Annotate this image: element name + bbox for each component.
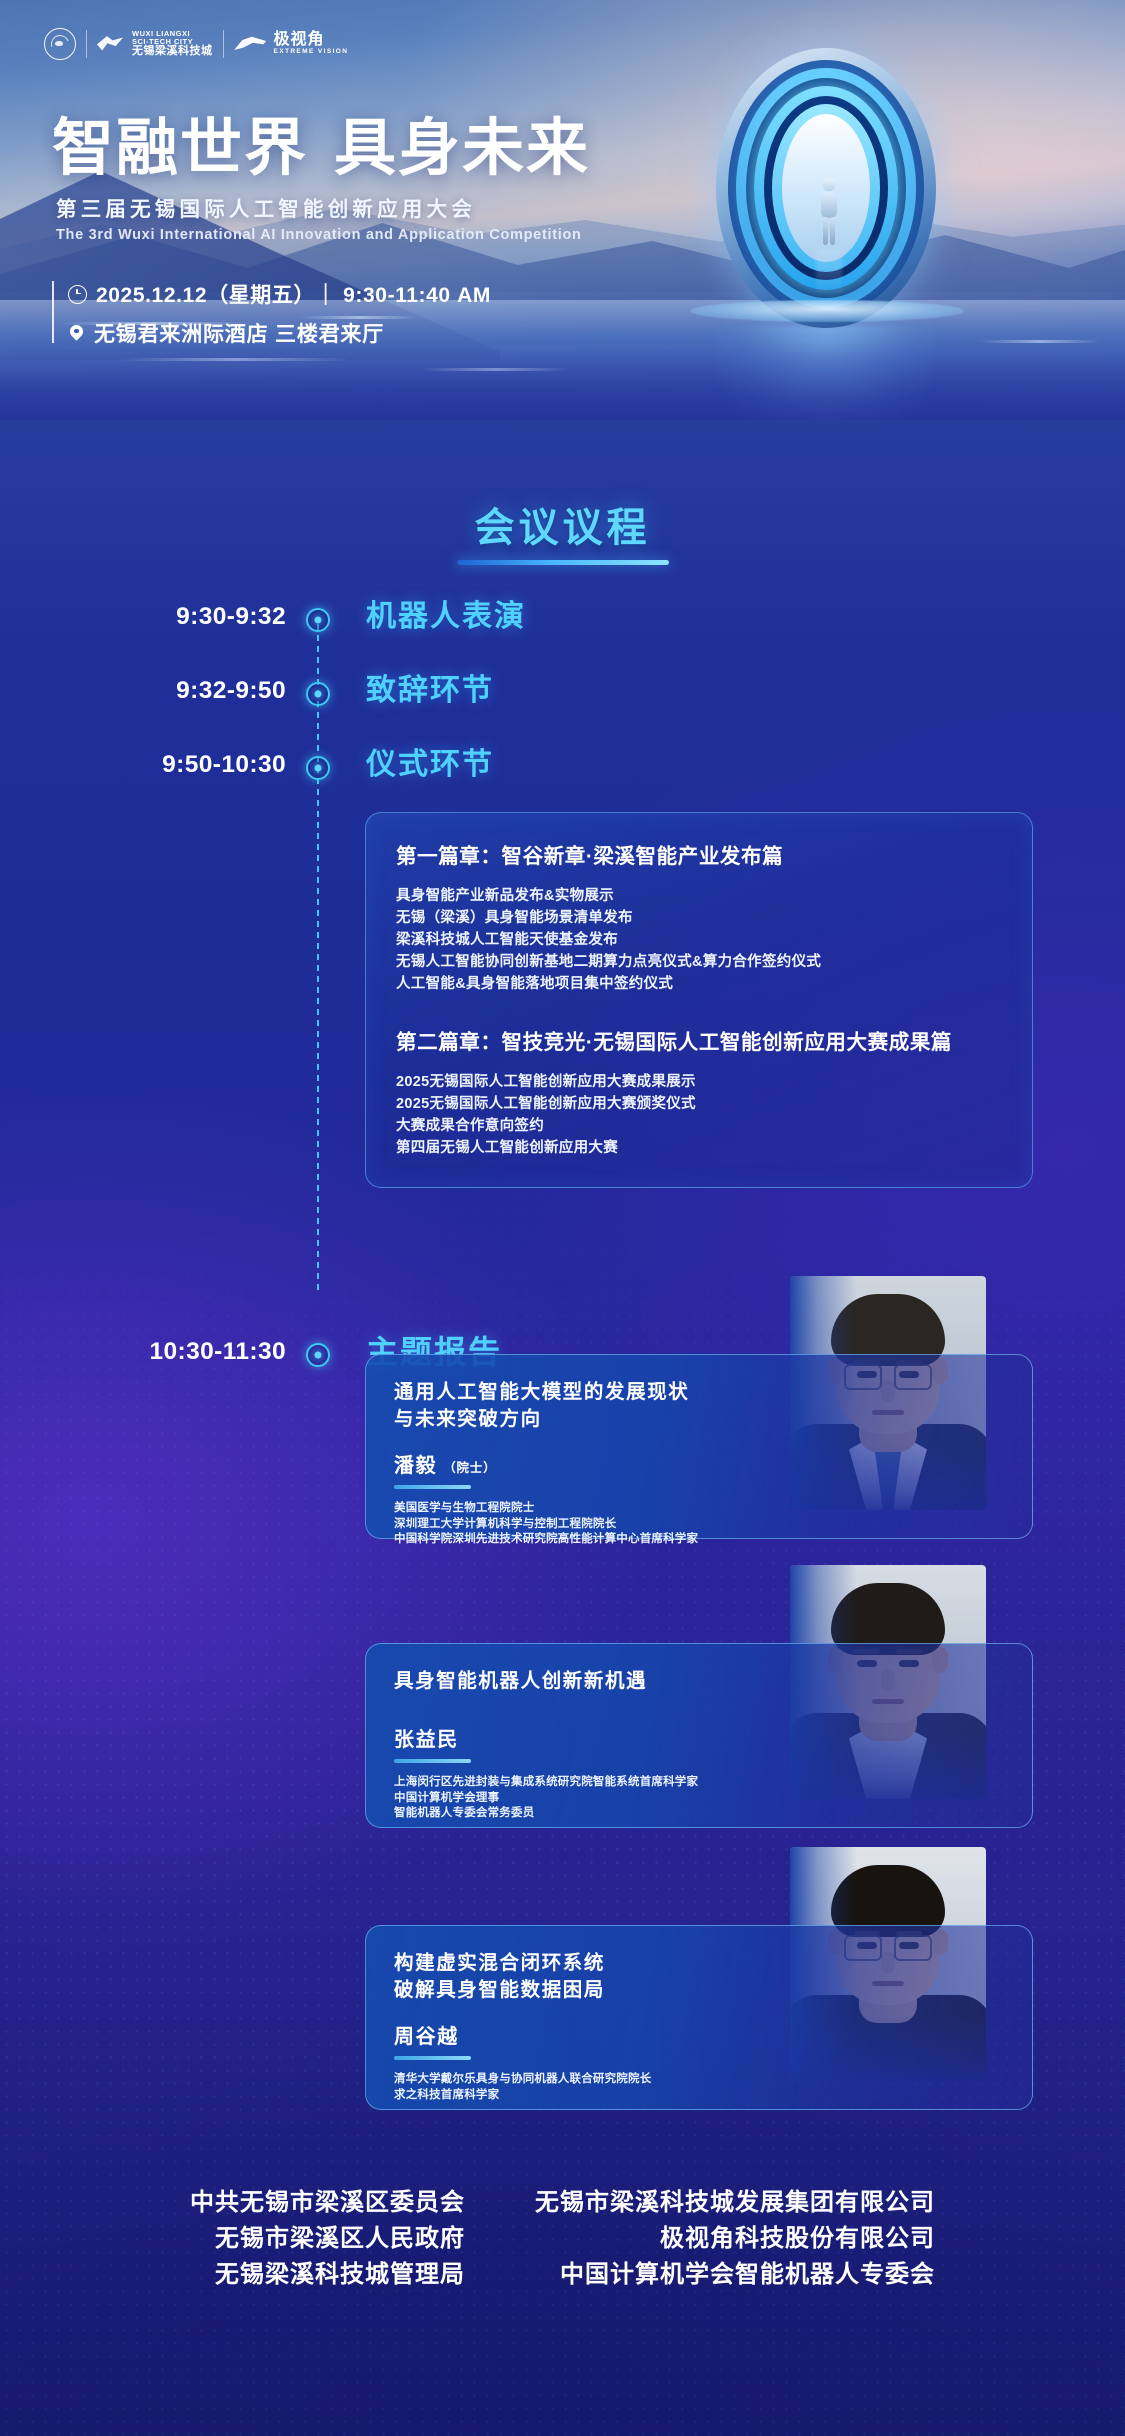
- timeline-time: 9:50-10:30: [0, 748, 286, 782]
- main-title: 智融世界具身未来: [52, 118, 590, 180]
- speaker-bio-line: 上海闵行区先进封装与集成系统研究院智能系统首席科学家: [394, 1775, 1004, 1791]
- main-title-part2: 具身未来: [334, 114, 590, 183]
- liangxi-cn-name: 无锡梁溪科技城: [132, 46, 213, 58]
- timeline-label: 致辞环节: [366, 674, 494, 708]
- timeline-time: 9:32-9:50: [0, 674, 286, 708]
- speaker-topic: 通用人工智能大模型的发展现状 与未来突破方向: [394, 1379, 1004, 1433]
- footer-org: 无锡市梁溪区人民政府: [215, 2221, 465, 2257]
- speaker-bio-line: 中国科学院深圳先进技术研究院高性能计算中心首席科学家: [394, 1532, 1004, 1548]
- extreme-vision-en: EXTREME VISION: [274, 49, 349, 56]
- footer-column-right: 无锡市梁溪科技城发展集团有限公司 极视角科技股份有限公司 中国计算机学会智能机器…: [535, 2185, 935, 2293]
- logo-divider: [223, 30, 224, 58]
- speaker-name: 张益民: [394, 1729, 459, 1751]
- speaker-topic-line1: 构建虚实混合闭环系统: [394, 1950, 1004, 1977]
- extreme-vision-cn: 极视角: [274, 32, 349, 49]
- clock-icon: [68, 285, 87, 304]
- timeline-time: 9:30-9:32: [0, 600, 286, 634]
- timeline-dot-icon: [306, 1343, 330, 1367]
- chapter-item: 大赛成果合作意向签约: [396, 1115, 1002, 1137]
- wing-mark-icon: [97, 32, 125, 56]
- footer-org: 极视角科技股份有限公司: [660, 2221, 935, 2257]
- hero-title-block: 智融世界具身未来 第三届无锡国际人工智能创新应用大会 The 3rd Wuxi …: [52, 118, 590, 243]
- agenda-heading-underline: [457, 560, 669, 565]
- footer-org: 中共无锡市梁溪区委员会: [190, 2185, 465, 2221]
- speaker-bio-line: 美国医学与生物工程院院士: [394, 1501, 1004, 1517]
- chapter-item: 第四届无锡人工智能创新应用大赛: [396, 1137, 1002, 1159]
- chapter-item: 2025无锡国际人工智能创新应用大赛成果展示: [396, 1071, 1002, 1093]
- agenda-heading-text: 会议议程: [475, 495, 651, 553]
- speaker-bio-line: 智能机器人专委会常务委员: [394, 1806, 1004, 1822]
- timeline-row: 9:50-10:30 仪式环节: [0, 748, 1125, 822]
- chapter-panel: 第一篇章：智谷新章·梁溪智能产业发布篇 具身智能产业新品发布&实物展示 无锡（梁…: [365, 812, 1033, 1188]
- location-pin-icon: [68, 325, 85, 342]
- chapter-item: 无锡人工智能协同创新基地二期算力点亮仪式&算力合作签约仪式: [396, 951, 1002, 973]
- footer-organizations: 中共无锡市梁溪区委员会 无锡市梁溪区人民政府 无锡梁溪科技城管理局 无锡市梁溪科…: [0, 2185, 1125, 2293]
- conference-agenda-poster: WUXI LIANGXI SCI-TECH CITY 无锡梁溪科技城 极视角 E…: [0, 0, 1125, 2436]
- timeline-row: 9:32-9:50 致辞环节: [0, 674, 1125, 748]
- footer-org: 无锡梁溪科技城管理局: [215, 2257, 465, 2293]
- chapter-item: 具身智能产业新品发布&实物展示: [396, 885, 1002, 907]
- timeline-time: 10:30-11:30: [0, 1335, 286, 1369]
- speaker-topic-line1: 通用人工智能大模型的发展现状: [394, 1379, 1004, 1406]
- government-emblem-icon: [44, 28, 76, 60]
- eagle-mark-icon: [234, 32, 268, 56]
- speaker-bio: 清华大学戴尔乐具身与协同机器人联合研究院院长 求之科技首席科学家: [394, 2072, 1004, 2103]
- speaker-topic-line2: 破解具身智能数据困局: [394, 1977, 1004, 2004]
- speaker-name-suffix: （院士）: [443, 1461, 496, 1475]
- timeline-dot-icon: [306, 756, 330, 780]
- chapter-title: 第一篇章：智谷新章·梁溪智能产业发布篇: [396, 839, 1002, 869]
- speaker-name-row: 张益民: [394, 1723, 1004, 1752]
- speaker-bio-line: 深圳理工大学计算机科学与控制工程院院长: [394, 1517, 1004, 1533]
- footer-column-left: 中共无锡市梁溪区委员会 无锡市梁溪区人民政府 无锡梁溪科技城管理局: [190, 2185, 465, 2293]
- speaker-name: 潘毅: [394, 1455, 437, 1477]
- timeline-dot-icon: [306, 682, 330, 706]
- event-datetime: 2025.12.12（星期五）｜ 9:30-11:40 AM: [96, 279, 491, 309]
- speaker-topic-line1: 具身智能机器人创新新机遇: [394, 1668, 1004, 1695]
- subtitle-cn: 第三届无锡国际人工智能创新应用大会: [56, 192, 590, 222]
- chapter-item: 2025无锡国际人工智能创新应用大赛颁奖仪式: [396, 1093, 1002, 1115]
- speaker-bio-line: 清华大学戴尔乐具身与协同机器人联合研究院院长: [394, 2072, 1004, 2088]
- liangxi-scitech-logo: WUXI LIANGXI SCI-TECH CITY 无锡梁溪科技城: [97, 30, 213, 57]
- chapter-block-2: 第二篇章：智技竞光·无锡国际人工智能创新应用大赛成果篇 2025无锡国际人工智能…: [396, 1025, 1002, 1159]
- speaker-name-underline: [394, 1485, 471, 1489]
- speaker-info-card-2: 具身智能机器人创新新机遇 张益民 上海闵行区先进封装与集成系统研究院智能系统首席…: [365, 1643, 1033, 1828]
- speaker-bio: 上海闵行区先进封装与集成系统研究院智能系统首席科学家 中国计算机学会理事 智能机…: [394, 1775, 1004, 1822]
- extreme-vision-logo: 极视角 EXTREME VISION: [234, 32, 349, 56]
- speaker-card-3: 构建虚实混合闭环系统 破解具身智能数据困局 周谷越 清华大学戴尔乐具身与协同机器…: [365, 1925, 1033, 2133]
- speaker-card-1: 通用人工智能大模型的发展现状 与未来突破方向 潘毅（院士） 美国医学与生物工程院…: [365, 1354, 1033, 1562]
- footer-org: 中国计算机学会智能机器人专委会: [560, 2257, 935, 2293]
- speaker-name-row: 潘毅（院士）: [394, 1449, 1004, 1478]
- chapter-item: 梁溪科技城人工智能天使基金发布: [396, 929, 1002, 951]
- logo-bar: WUXI LIANGXI SCI-TECH CITY 无锡梁溪科技城 极视角 E…: [44, 28, 348, 60]
- speaker-topic: 构建虚实混合闭环系统 破解具身智能数据困局: [394, 1950, 1004, 2004]
- footer-org: 无锡市梁溪科技城发展集团有限公司: [535, 2185, 935, 2221]
- portal-pedestal: [690, 300, 964, 322]
- speaker-name-underline: [394, 1759, 471, 1763]
- chapter-title: 第二篇章：智技竞光·无锡国际人工智能创新应用大赛成果篇: [396, 1025, 1002, 1055]
- speaker-name-row: 周谷越: [394, 2020, 1004, 2049]
- speaker-topic-line2: 与未来突破方向: [394, 1406, 1004, 1433]
- hero-bottom-fade: [0, 340, 1125, 420]
- timeline-row: 9:30-9:32 机器人表演: [0, 600, 1125, 674]
- timeline-label: 仪式环节: [366, 748, 494, 782]
- timeline-label: 机器人表演: [366, 600, 526, 634]
- speaker-info-card-1: 通用人工智能大模型的发展现状 与未来突破方向 潘毅（院士） 美国医学与生物工程院…: [365, 1354, 1033, 1539]
- speaker-info-card-3: 构建虚实混合闭环系统 破解具身智能数据困局 周谷越 清华大学戴尔乐具身与协同机器…: [365, 1925, 1033, 2110]
- timeline-dot-icon: [306, 608, 330, 632]
- main-title-part1: 智融世界: [52, 114, 308, 183]
- speaker-card-2: 具身智能机器人创新新机遇 张益民 上海闵行区先进封装与集成系统研究院智能系统首席…: [365, 1643, 1033, 1851]
- agenda-heading: 会议议程: [0, 495, 1125, 565]
- speaker-bio-line: 求之科技首席科学家: [394, 2088, 1004, 2104]
- chapter-item-list: 2025无锡国际人工智能创新应用大赛成果展示 2025无锡国际人工智能创新应用大…: [396, 1071, 1002, 1159]
- subtitle-en: The 3rd Wuxi International AI Innovation…: [56, 227, 590, 243]
- speaker-name: 周谷越: [394, 2026, 459, 2048]
- speaker-bio-line: 中国计算机学会理事: [394, 1791, 1004, 1807]
- chapter-item-list: 具身智能产业新品发布&实物展示 无锡（梁溪）具身智能场景清单发布 梁溪科技城人工…: [396, 885, 1002, 995]
- chapter-item: 人工智能&具身智能落地项目集中签约仪式: [396, 973, 1002, 995]
- chapter-block-1: 第一篇章：智谷新章·梁溪智能产业发布篇 具身智能产业新品发布&实物展示 无锡（梁…: [396, 839, 1002, 995]
- event-location: 无锡君来洲际酒店 三楼君来厅: [94, 318, 384, 348]
- speaker-name-underline: [394, 2056, 471, 2060]
- event-datetime-row: 2025.12.12（星期五）｜ 9:30-11:40 AM: [68, 279, 491, 309]
- agenda-timeline: 9:30-9:32 机器人表演 9:32-9:50 致辞环节 9:50-10:3…: [0, 600, 1125, 822]
- robot-reflection: [816, 248, 842, 296]
- speaker-topic: 具身智能机器人创新新机遇: [394, 1668, 1004, 1695]
- event-location-row: 无锡君来洲际酒店 三楼君来厅: [68, 318, 491, 348]
- logo-divider: [86, 30, 87, 58]
- chapter-item: 无锡（梁溪）具身智能场景清单发布: [396, 907, 1002, 929]
- speaker-bio: 美国医学与生物工程院院士 深圳理工大学计算机科学与控制工程院院长 中国科学院深圳…: [394, 1501, 1004, 1548]
- event-meta-block: 2025.12.12（星期五）｜ 9:30-11:40 AM 无锡君来洲际酒店 …: [52, 279, 491, 348]
- humanoid-robot-figure: [816, 178, 842, 246]
